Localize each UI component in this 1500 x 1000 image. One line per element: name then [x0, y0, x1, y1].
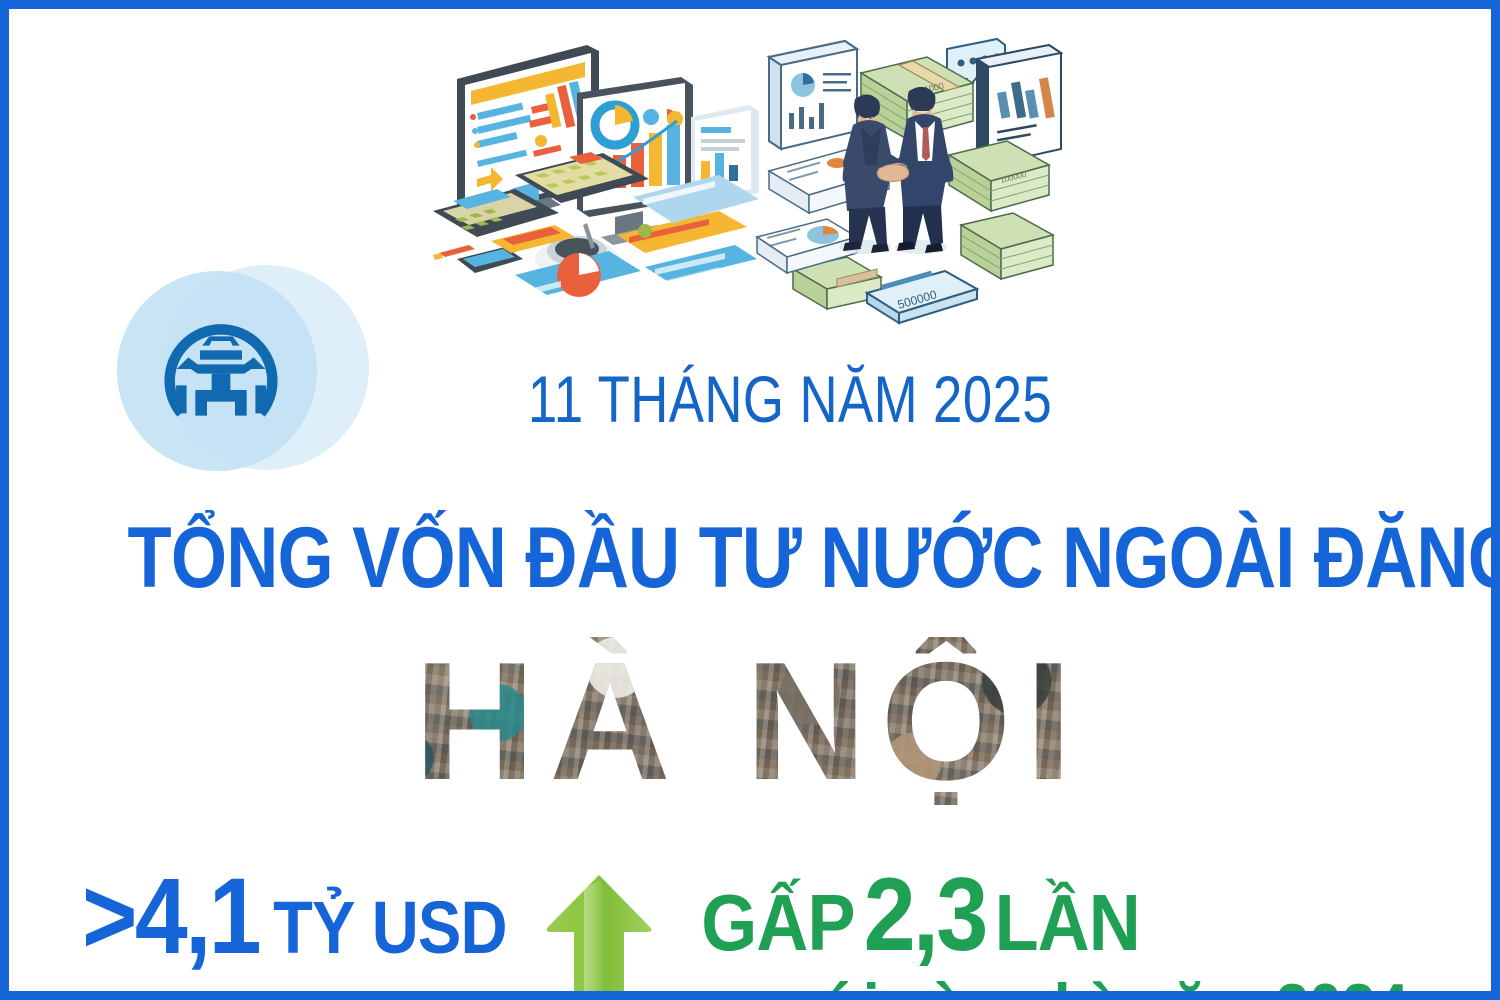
total-capital-value: >4,1 [82, 865, 259, 968]
total-capital-stat: >4,1 TỶ USD [82, 865, 507, 968]
growth-line: GẤP 2,3 LẦN [701, 865, 1408, 967]
city-name-hanoi: HÀ NỘI [9, 637, 1491, 805]
growth-comparison: so với cùng kỳ năm 2024 [701, 969, 1408, 1000]
growth-suffix: LẦN [994, 884, 1139, 962]
business-analytics-illustration [419, 21, 769, 341]
total-capital-unit: TỶ USD [273, 893, 507, 963]
growth-prefix: GẤP [701, 884, 854, 962]
handshake-money-illustration: 1000 100000 [749, 21, 1079, 331]
illustration-row: 1000 100000 [419, 21, 1079, 341]
growth-stat: GẤP 2,3 LẦN so với cùng kỳ năm 2024 [701, 865, 1408, 1000]
growth-value: 2,3 [863, 865, 985, 967]
statistics-row: >4,1 TỶ USD GẤP 2,3 [9, 865, 1491, 1000]
kicker-period: 11 THÁNG NĂM 2025 [157, 361, 1343, 437]
infographic-poster: 1000 100000 [0, 0, 1500, 1000]
arrow-up-icon [544, 871, 654, 1000]
page-title: TỔNG VỐN ĐẦU TƯ NƯỚC NGOÀI ĐĂNG KÝ VÀO [128, 515, 1373, 601]
